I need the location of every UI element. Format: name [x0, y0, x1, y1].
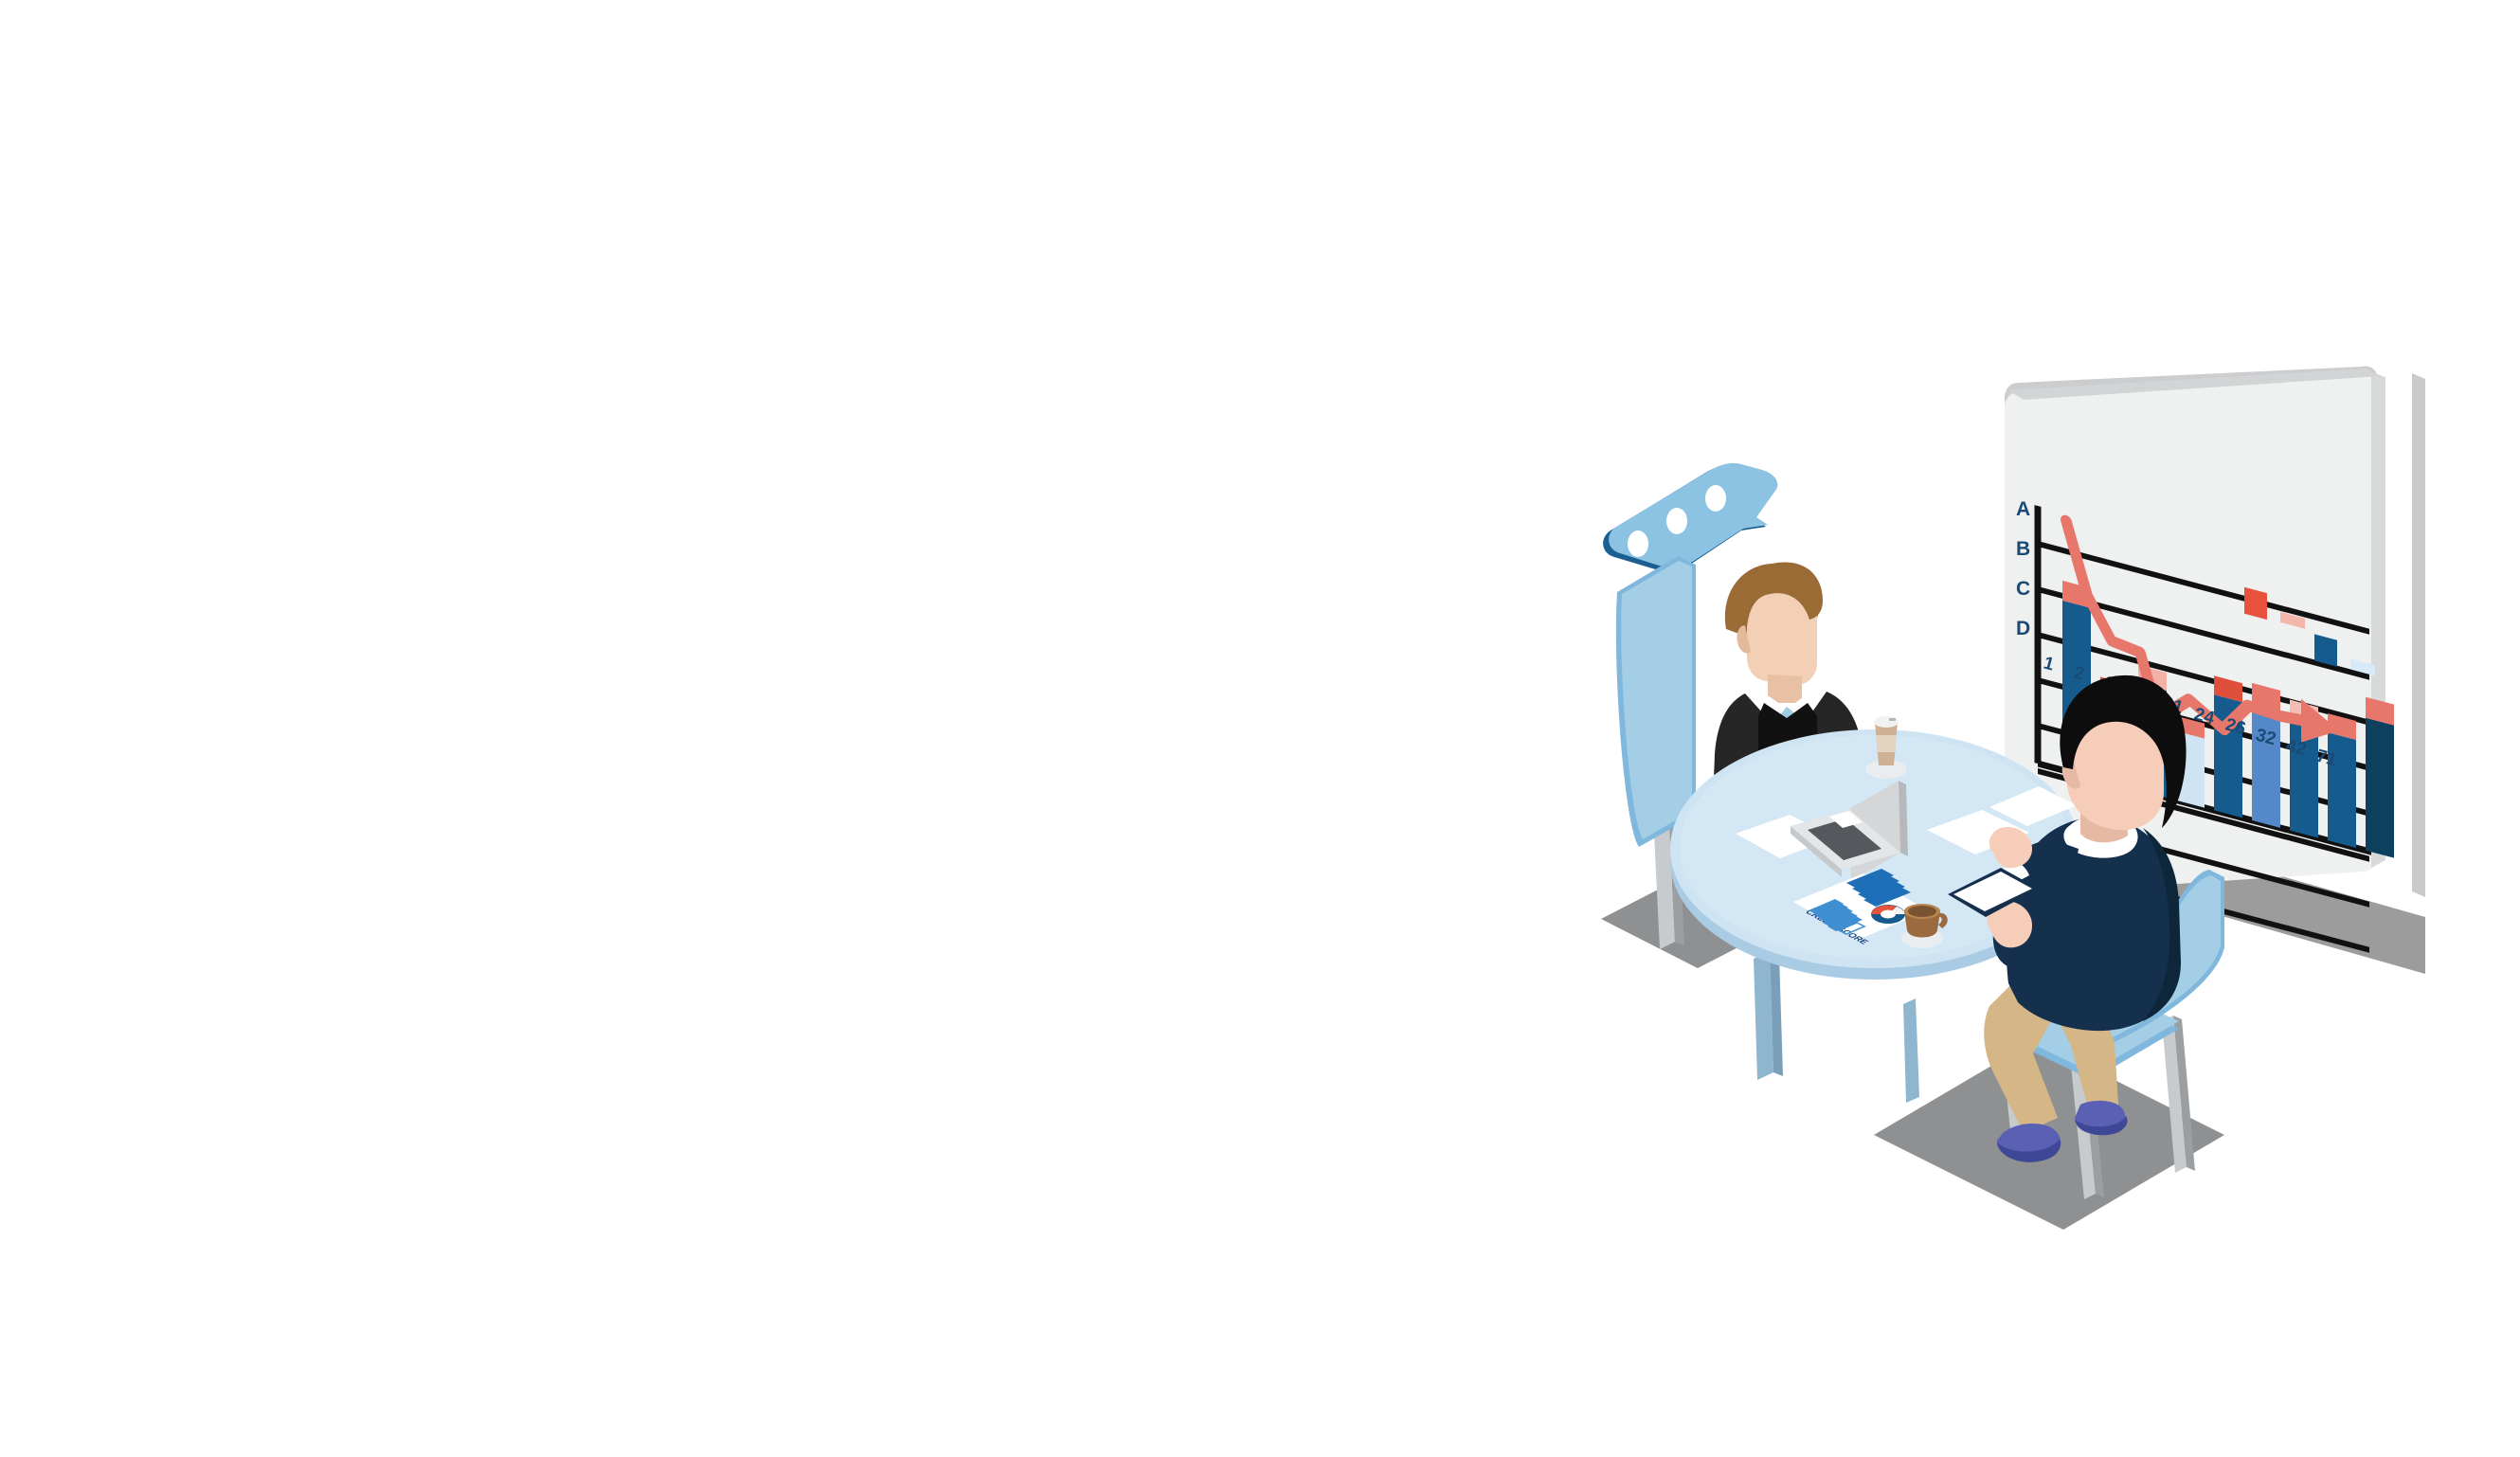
- y-tick-label: A: [2016, 498, 2030, 520]
- presenter-neck: [1768, 675, 1802, 703]
- bar: [2366, 718, 2394, 858]
- mug-coffee: [1908, 906, 1936, 917]
- speech-dot: [1666, 508, 1687, 534]
- speech-dot: [1628, 531, 1648, 557]
- speech-dot: [1705, 485, 1726, 512]
- y-tick-label: B: [2016, 538, 2030, 560]
- table-leg-2: [1903, 998, 1919, 1103]
- speech-bubble[interactable]: [1603, 463, 1777, 571]
- cup-lid-tab: [1889, 718, 1896, 721]
- cup-sleeve: [1876, 735, 1897, 752]
- y-tick-label: C: [2016, 578, 2030, 600]
- isometric-meeting-illustration: A B C D 1 2 3 4 11 24 26 32 42 71: [0, 0, 2520, 1457]
- bar: [2252, 703, 2280, 828]
- board-side-face: [2412, 373, 2425, 897]
- report-donut-chart: [1871, 905, 1905, 924]
- illustration-canvas: Isometric business meeting presentation …: [0, 0, 2520, 1457]
- cup-lid: [1874, 716, 1899, 728]
- y-tick-label: D: [2016, 618, 2030, 639]
